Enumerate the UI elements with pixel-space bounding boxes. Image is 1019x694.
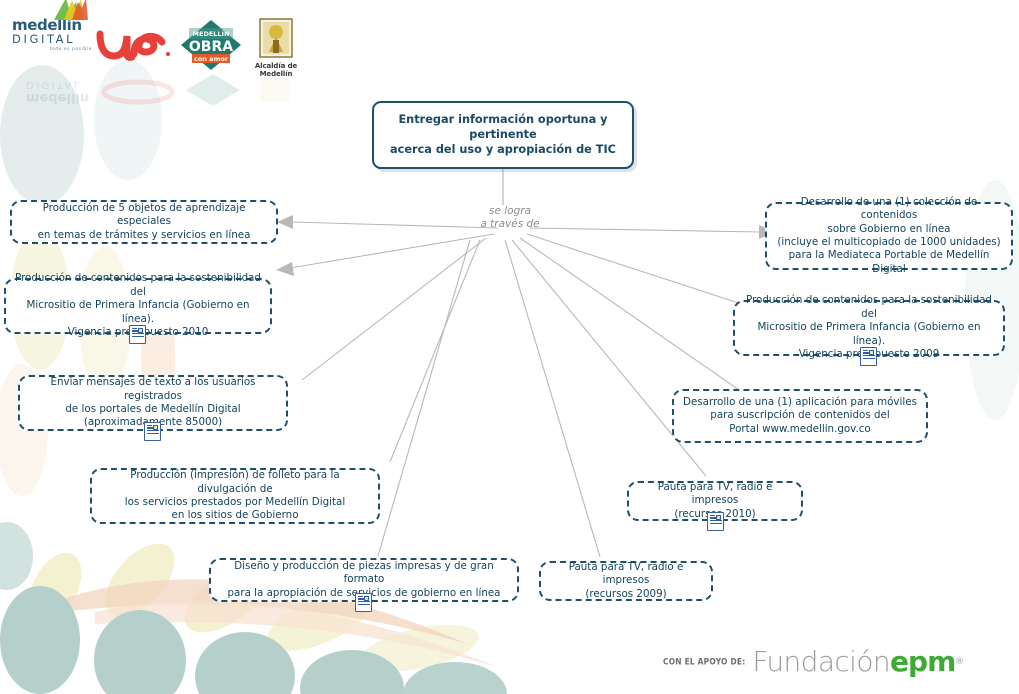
node-line: Micrositio de Primera Infancia (Gobierno…: [744, 321, 994, 348]
svg-text:OBRA: OBRA: [189, 39, 233, 55]
node-line: para suscripción de contenidos del: [683, 409, 917, 422]
doc-line: [358, 604, 370, 605]
alcaldia-shield-icon: [259, 18, 293, 58]
alcaldia-de-medellin-logo: Alcaldía de Medellín: [248, 18, 304, 72]
footer-credit: CON EL APOYO DE: Fundación epm ®: [663, 645, 964, 678]
node-line: (incluye el multicopiado de 1000 unidade…: [776, 236, 1002, 249]
logo-bar: medellin DIGITAL todo es posible MEDELLÍ…: [0, 0, 320, 96]
document-icon: [144, 422, 161, 441]
node-line: (recursos 2009): [550, 588, 702, 601]
node-line: para la Mediateca Portable de Medellín D…: [776, 249, 1002, 276]
doc-line: [358, 601, 370, 602]
title-line-1: Entregar información oportuna y pertinen…: [384, 112, 622, 142]
node-line: Portal www.medellin.gov.co: [683, 423, 917, 436]
node-coleccion-contenidos[interactable]: Desarrollo de una (1) colección de conte…: [765, 202, 1013, 270]
document-icon: [129, 325, 146, 344]
node-line: Micrositio de Primera Infancia (Gobierno…: [15, 299, 261, 326]
node-objetos-aprendizaje[interactable]: Producción de 5 objetos de aprendizaje e…: [10, 200, 278, 244]
node-line: de los portales de Medellín Digital: [29, 403, 277, 416]
node-folleto-divulgacion[interactable]: Producción (impresión) de folleto para l…: [90, 468, 380, 524]
hub-label-line1: se logra: [455, 205, 565, 218]
node-line: Producción (impresión) de folleto para l…: [101, 469, 369, 496]
node-aplicacion-moviles[interactable]: Desarrollo de una (1) aplicación para mó…: [672, 389, 928, 443]
doc-line: [863, 350, 868, 351]
node-line: Producción de contenidos para la sosteni…: [15, 272, 261, 299]
doc-thumb: [153, 425, 158, 430]
medellin-digital-logo: medellin DIGITAL todo es posible: [12, 18, 92, 51]
document-icon: [355, 593, 372, 612]
node-line: Producción de 5 objetos de aprendizaje e…: [21, 202, 267, 229]
document-icon: [707, 512, 724, 531]
node-line: Enviar mensajes de texto a los usuarios …: [29, 376, 277, 403]
doc-line: [863, 355, 875, 356]
medellin-digital-icon: [50, 0, 90, 22]
node-line: sobre Gobierno en línea: [776, 223, 1002, 236]
node-line: Desarrollo de una (1) colección de conte…: [776, 196, 1002, 223]
node-line: Pauta para TV, radio e impresos: [550, 561, 702, 588]
node-line: Pauta para TV, radio e impresos: [638, 481, 792, 508]
doc-thumb: [869, 350, 874, 355]
alcaldia-label: Alcaldía de Medellín: [248, 62, 304, 78]
doc-thumb: [364, 596, 369, 601]
fundacion-wordmark: Fundación: [752, 648, 890, 676]
digital-wordmark: DIGITAL: [12, 33, 92, 46]
doc-line: [132, 336, 144, 337]
doc-line: [710, 515, 715, 516]
hub-label: se logra a través de: [455, 205, 565, 231]
document-icon: [860, 347, 877, 366]
doc-line: [710, 520, 722, 521]
central-title-node[interactable]: Entregar información oportuna y pertinen…: [372, 101, 634, 169]
doc-line: [132, 328, 137, 329]
support-label: CON EL APOYO DE:: [663, 656, 745, 666]
doc-thumb: [138, 328, 143, 333]
node-pauta-2009[interactable]: Pauta para TV, radio e impresos (recurso…: [539, 561, 713, 601]
doc-line: [147, 433, 159, 434]
node-line: Producción de contenidos para la sosteni…: [744, 294, 994, 321]
svg-text:MEDELLÍN: MEDELLÍN: [193, 29, 230, 38]
doc-thumb: [716, 515, 721, 520]
epm-wordmark: epm: [890, 645, 955, 678]
node-line: en los sitios de Gobierno: [101, 509, 369, 522]
node-line: los servicios prestados por Medellín Dig…: [101, 496, 369, 509]
doc-line: [863, 358, 875, 359]
svg-text:con amor: con amor: [194, 55, 229, 63]
medellin-tagline: todo es posible: [12, 46, 92, 51]
une-logo: [96, 28, 176, 62]
hub-label-line2: a través de: [455, 218, 565, 231]
doc-line: [147, 430, 159, 431]
node-line: Desarrollo de una (1) aplicación para mó…: [683, 396, 917, 409]
doc-line: [358, 596, 363, 597]
doc-line: [710, 523, 722, 524]
diagram-canvas: medellin DIGITAL todo es posible MEDELLÍ…: [0, 0, 1019, 694]
registered-mark: ®: [955, 657, 964, 667]
medellin-obra-con-amor-logo: MEDELLÍN OBRA con amor: [180, 19, 242, 71]
doc-line: [132, 333, 144, 334]
doc-line: [147, 425, 152, 426]
node-line: Diseño y producción de piezas impresas y…: [220, 560, 508, 587]
title-line-2: acerca del uso y apropiación de TIC: [384, 142, 622, 157]
node-line: en temas de trámites y servicios en líne…: [21, 229, 267, 242]
